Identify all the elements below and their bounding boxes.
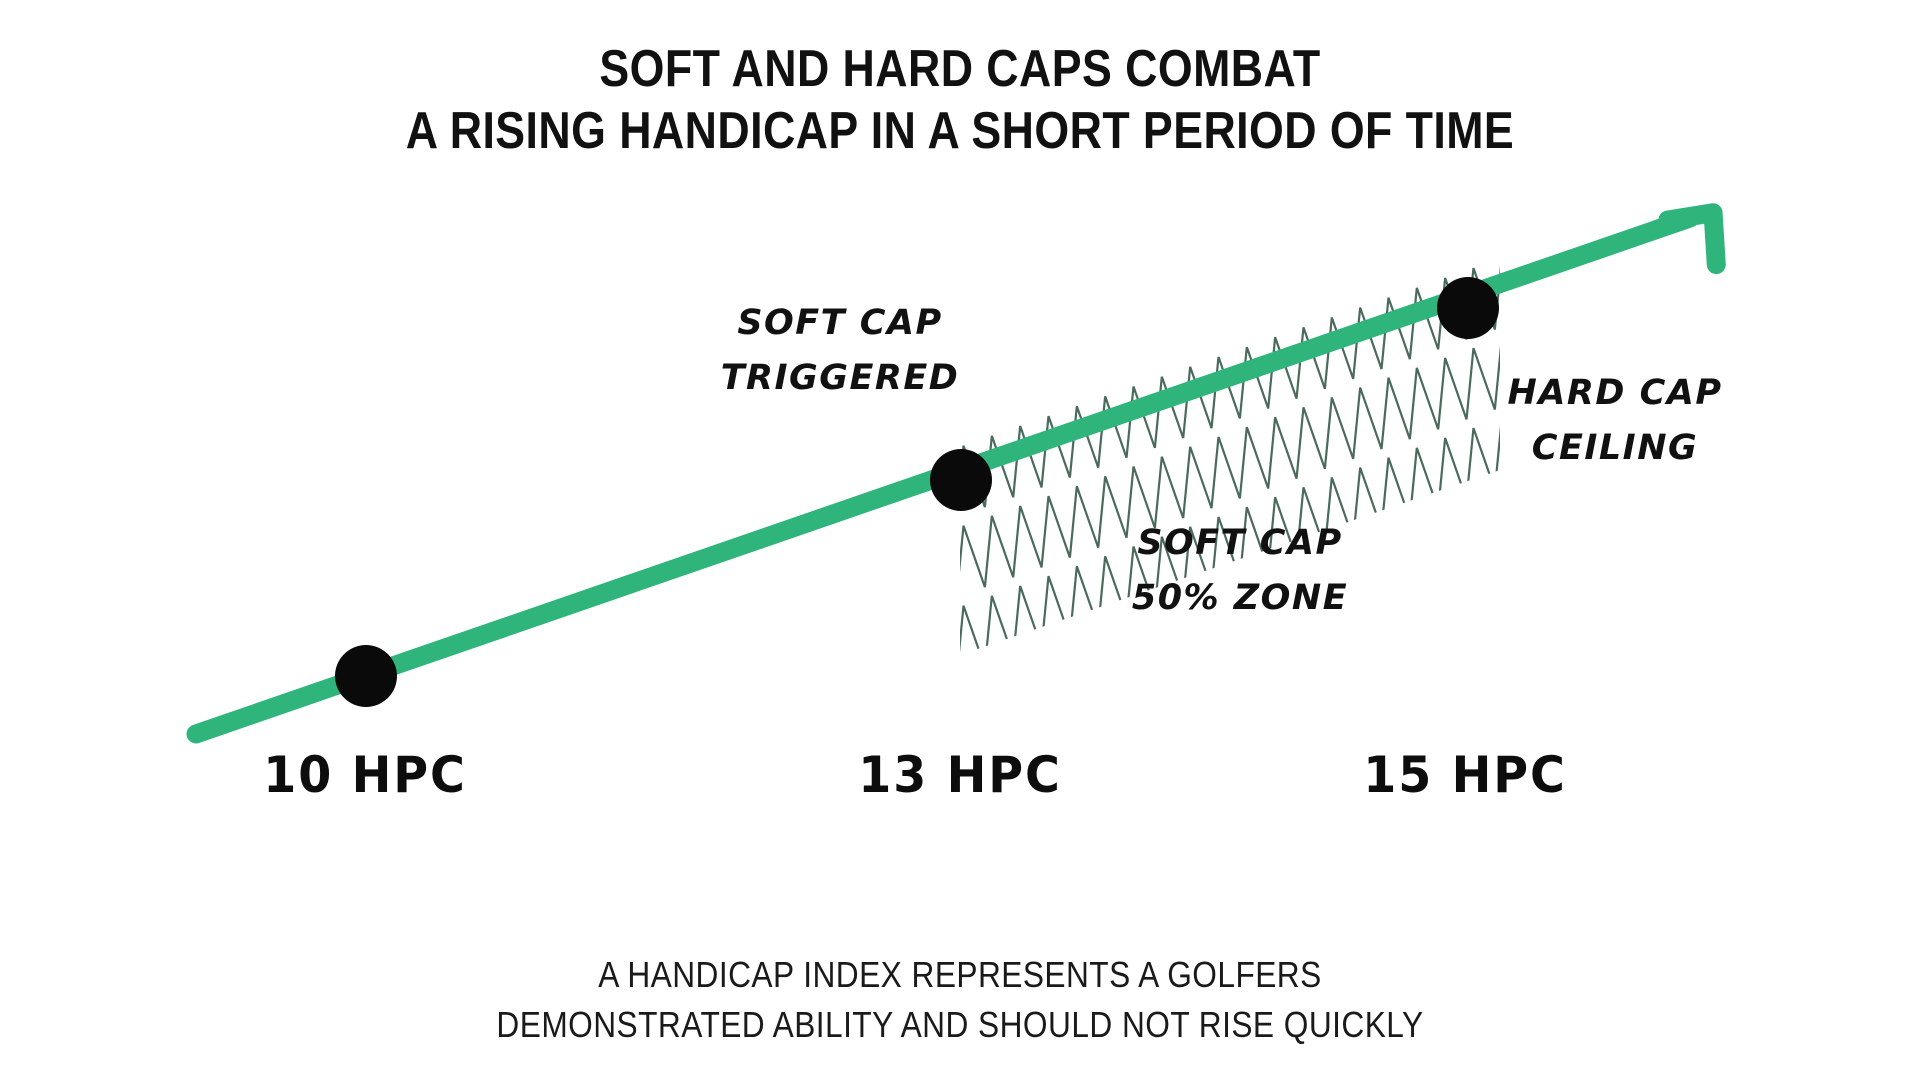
title-line-2: A RISING HANDICAP IN A SHORT PERIOD OF T… — [134, 100, 1785, 162]
annotation-soft-cap-triggered: SOFT CAP TRIGGERED — [620, 296, 1060, 406]
handicap-trend-chart — [0, 0, 1920, 1080]
annotation-hard-cap-ceiling-line-2: CEILING — [1400, 421, 1830, 476]
annotation-soft-cap-triggered-line-2: TRIGGERED — [620, 351, 1060, 406]
marker-dot-13-hpc[interactable] — [930, 449, 992, 511]
annotation-hard-cap-ceiling: HARD CAP CEILING — [1400, 366, 1830, 476]
arrow-head-icon — [1668, 205, 1730, 275]
caption-line-1: A HANDICAP INDEX REPRESENTS A GOLFERS — [115, 950, 1805, 1000]
annotation-soft-cap-zone: SOFT CAP 50% ZONE — [1020, 516, 1460, 626]
annotation-soft-cap-triggered-line-1: SOFT CAP — [620, 296, 1060, 351]
infographic-canvas: SOFT AND HARD CAPS COMBAT A RISING HANDI… — [0, 0, 1920, 1080]
annotation-soft-cap-zone-line-2: 50% ZONE — [1020, 571, 1460, 626]
caption: A HANDICAP INDEX REPRESENTS A GOLFERS DE… — [0, 950, 1920, 1050]
page-title: SOFT AND HARD CAPS COMBAT A RISING HANDI… — [0, 38, 1920, 162]
axis-label-13-hpc: 13 HPC — [803, 748, 1117, 802]
marker-dot-10-hpc[interactable] — [335, 645, 397, 707]
annotation-hard-cap-ceiling-line-1: HARD CAP — [1400, 366, 1830, 421]
caption-line-2: DEMONSTRATED ABILITY AND SHOULD NOT RISE… — [115, 1000, 1805, 1050]
title-line-1: SOFT AND HARD CAPS COMBAT — [134, 38, 1785, 100]
axis-label-15-hpc: 15 HPC — [1308, 748, 1622, 802]
annotation-soft-cap-zone-line-1: SOFT CAP — [1020, 516, 1460, 571]
axis-label-10-hpc: 10 HPC — [208, 748, 522, 802]
marker-dot-15-hpc[interactable] — [1437, 277, 1499, 339]
